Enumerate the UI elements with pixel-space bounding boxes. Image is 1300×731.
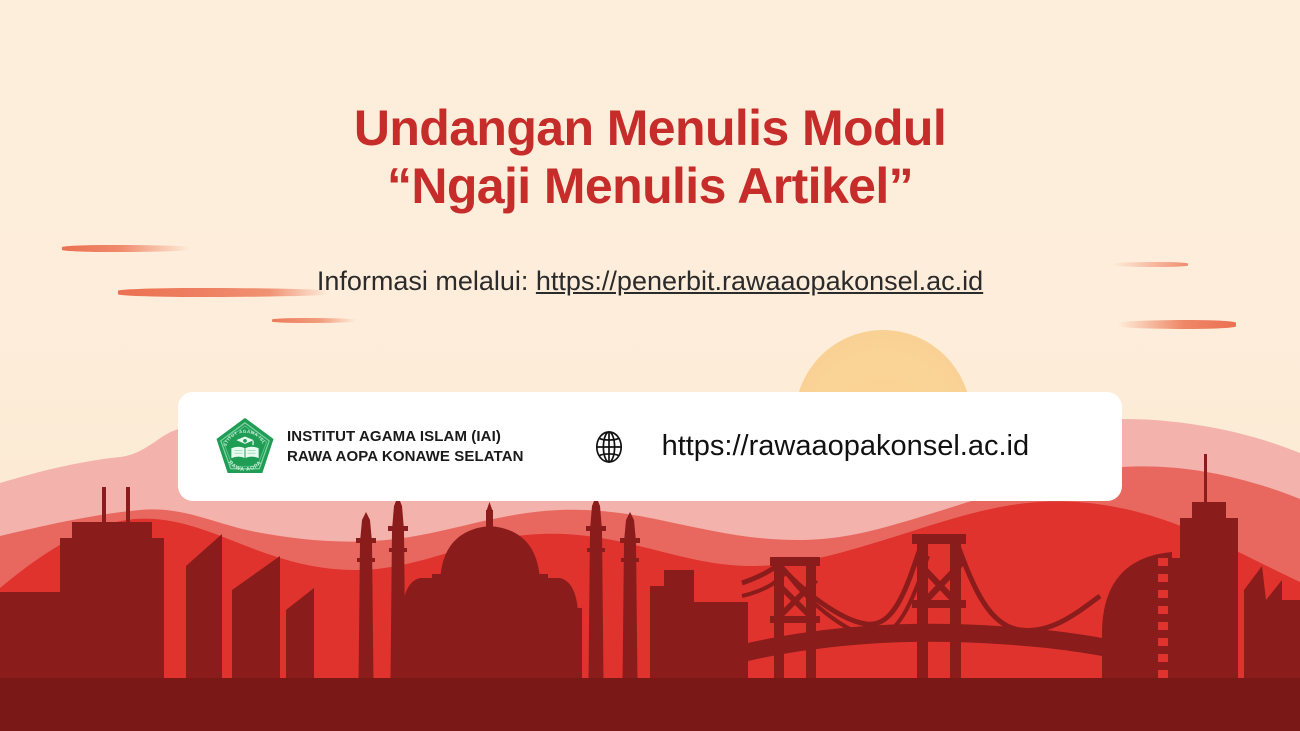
cloud-stroke-icon: [272, 318, 356, 323]
cloud-stroke-icon: [62, 245, 190, 252]
website-url-link[interactable]: https://rawaaopakonsel.ac.id: [662, 430, 1030, 463]
info-line: Informasi melalui: https://penerbit.rawa…: [0, 266, 1300, 297]
info-url-link[interactable]: https://penerbit.rawaaopakonsel.ac.id: [536, 266, 983, 296]
footer-card: INSTITUT AGAMA ISLAM RAWA AOPA INSTITUT …: [178, 392, 1122, 501]
institution-line-2: RAWA AOPA KONAWE SELATAN: [287, 447, 524, 467]
title-line-2: “Ngaji Menulis Artikel”: [0, 157, 1300, 215]
poster-title: Undangan Menulis Modul “Ngaji Menulis Ar…: [0, 99, 1300, 215]
globe-icon: [592, 430, 626, 464]
cloud-stroke-icon: [1118, 320, 1236, 329]
website-block: https://rawaaopakonsel.ac.id: [592, 430, 1030, 464]
institution-line-1: INSTITUT AGAMA ISLAM (IAI): [287, 427, 524, 447]
institution-name: INSTITUT AGAMA ISLAM (IAI) RAWA AOPA KON…: [287, 427, 524, 467]
institution-block: INSTITUT AGAMA ISLAM RAWA AOPA INSTITUT …: [214, 416, 524, 478]
poster-canvas: Undangan Menulis Modul “Ngaji Menulis Ar…: [0, 0, 1300, 731]
institution-logo-icon: INSTITUT AGAMA ISLAM RAWA AOPA: [214, 416, 276, 478]
title-line-1: Undangan Menulis Modul: [0, 99, 1300, 157]
info-label: Informasi melalui:: [317, 266, 536, 296]
